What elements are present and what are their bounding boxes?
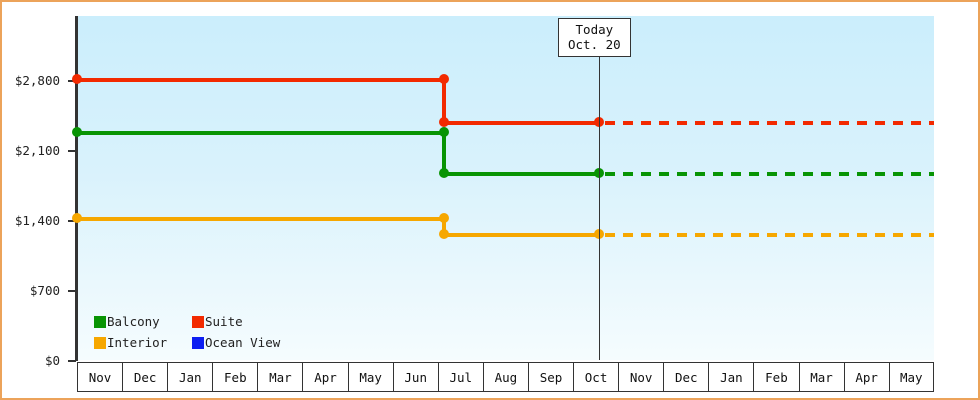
suite-point-start: [72, 74, 82, 84]
legend-label-interior: Interior: [107, 335, 167, 350]
y-axis-label-2800: $2,800: [15, 73, 60, 88]
legend-swatch-ocean-view-icon: [192, 337, 204, 349]
today-vertical-line: [599, 54, 601, 360]
interior-point-start: [72, 213, 82, 223]
x-axis-month-cell[interactable]: Jun: [393, 362, 438, 392]
x-axis-month-cell[interactable]: May: [889, 362, 934, 392]
y-axis-label-2100: $2,100: [15, 143, 60, 158]
x-axis-month-cell[interactable]: Apr: [844, 362, 889, 392]
legend-label-ocean-view: Ocean View: [205, 335, 280, 350]
balcony-line-after-step: [442, 172, 601, 176]
x-axis-month-cell[interactable]: Mar: [257, 362, 302, 392]
x-axis-month-cell[interactable]: Apr: [302, 362, 347, 392]
x-axis-month-cell[interactable]: Dec: [122, 362, 167, 392]
legend-swatch-suite-icon: [192, 316, 204, 328]
plot-area: [77, 16, 934, 360]
x-axis-month-cell[interactable]: Jan: [708, 362, 753, 392]
x-axis-month-cell[interactable]: Jul: [438, 362, 483, 392]
interior-point-step-top: [439, 213, 449, 223]
y-axis-label-700: $700: [30, 283, 60, 298]
legend-row-2: Interior Ocean View: [94, 332, 280, 353]
suite-forecast-line: [605, 121, 934, 125]
balcony-forecast-line: [605, 172, 934, 176]
interior-line-before-step: [77, 217, 447, 221]
x-axis-month-cell[interactable]: Nov: [77, 362, 122, 392]
legend-label-balcony: Balcony: [107, 314, 160, 329]
legend-item-suite[interactable]: Suite: [192, 314, 243, 329]
x-axis-month-cell[interactable]: Jan: [167, 362, 212, 392]
x-axis-month-strip: NovDecJanFebMarAprMayJunJulAugSepOctNovD…: [77, 362, 934, 392]
legend-swatch-balcony-icon: [94, 316, 106, 328]
y-tick-700: [68, 290, 76, 292]
suite-line-after-step: [442, 121, 601, 125]
x-axis-month-cell[interactable]: Sep: [528, 362, 573, 392]
balcony-point-step-top: [439, 127, 449, 137]
balcony-line-before-step: [77, 131, 447, 135]
legend-swatch-interior-icon: [94, 337, 106, 349]
y-tick-0: [68, 360, 76, 362]
x-axis-month-cell[interactable]: Oct: [573, 362, 618, 392]
x-axis-month-cell[interactable]: May: [348, 362, 393, 392]
interior-line-after-step: [442, 233, 601, 237]
legend-row-1: Balcony Suite: [94, 311, 280, 332]
x-axis-month-cell[interactable]: Dec: [663, 362, 708, 392]
balcony-point-start: [72, 127, 82, 137]
legend-item-balcony[interactable]: Balcony: [94, 314, 192, 329]
balcony-point-step-bottom: [439, 168, 449, 178]
y-axis-line: [75, 16, 78, 361]
x-axis-month-cell[interactable]: Feb: [212, 362, 257, 392]
suite-point-step-top: [439, 74, 449, 84]
legend-item-interior[interactable]: Interior: [94, 335, 192, 350]
y-axis-label-0: $0: [45, 353, 60, 368]
chart-legend: Balcony Suite Interior Ocean View: [94, 311, 280, 353]
x-axis-month-cell[interactable]: Mar: [799, 362, 844, 392]
x-axis-month-cell[interactable]: Nov: [618, 362, 663, 392]
chart-frame: $2,800 $2,100 $1,400 $700 $0 Today Oct. …: [0, 0, 980, 400]
x-axis-month-cell[interactable]: Feb: [753, 362, 798, 392]
legend-item-ocean-view[interactable]: Ocean View: [192, 335, 280, 350]
legend-label-suite: Suite: [205, 314, 243, 329]
y-tick-2100: [68, 150, 76, 152]
suite-point-step-bottom: [439, 117, 449, 127]
today-label-line1: Today: [568, 22, 621, 37]
interior-forecast-line: [605, 233, 934, 237]
y-axis-label-1400: $1,400: [15, 213, 60, 228]
suite-line-before-step: [77, 78, 447, 82]
today-label-line2: Oct. 20: [568, 37, 621, 52]
interior-point-step-bottom: [439, 229, 449, 239]
x-axis-month-cell[interactable]: Aug: [483, 362, 528, 392]
today-label-box: Today Oct. 20: [558, 18, 631, 57]
